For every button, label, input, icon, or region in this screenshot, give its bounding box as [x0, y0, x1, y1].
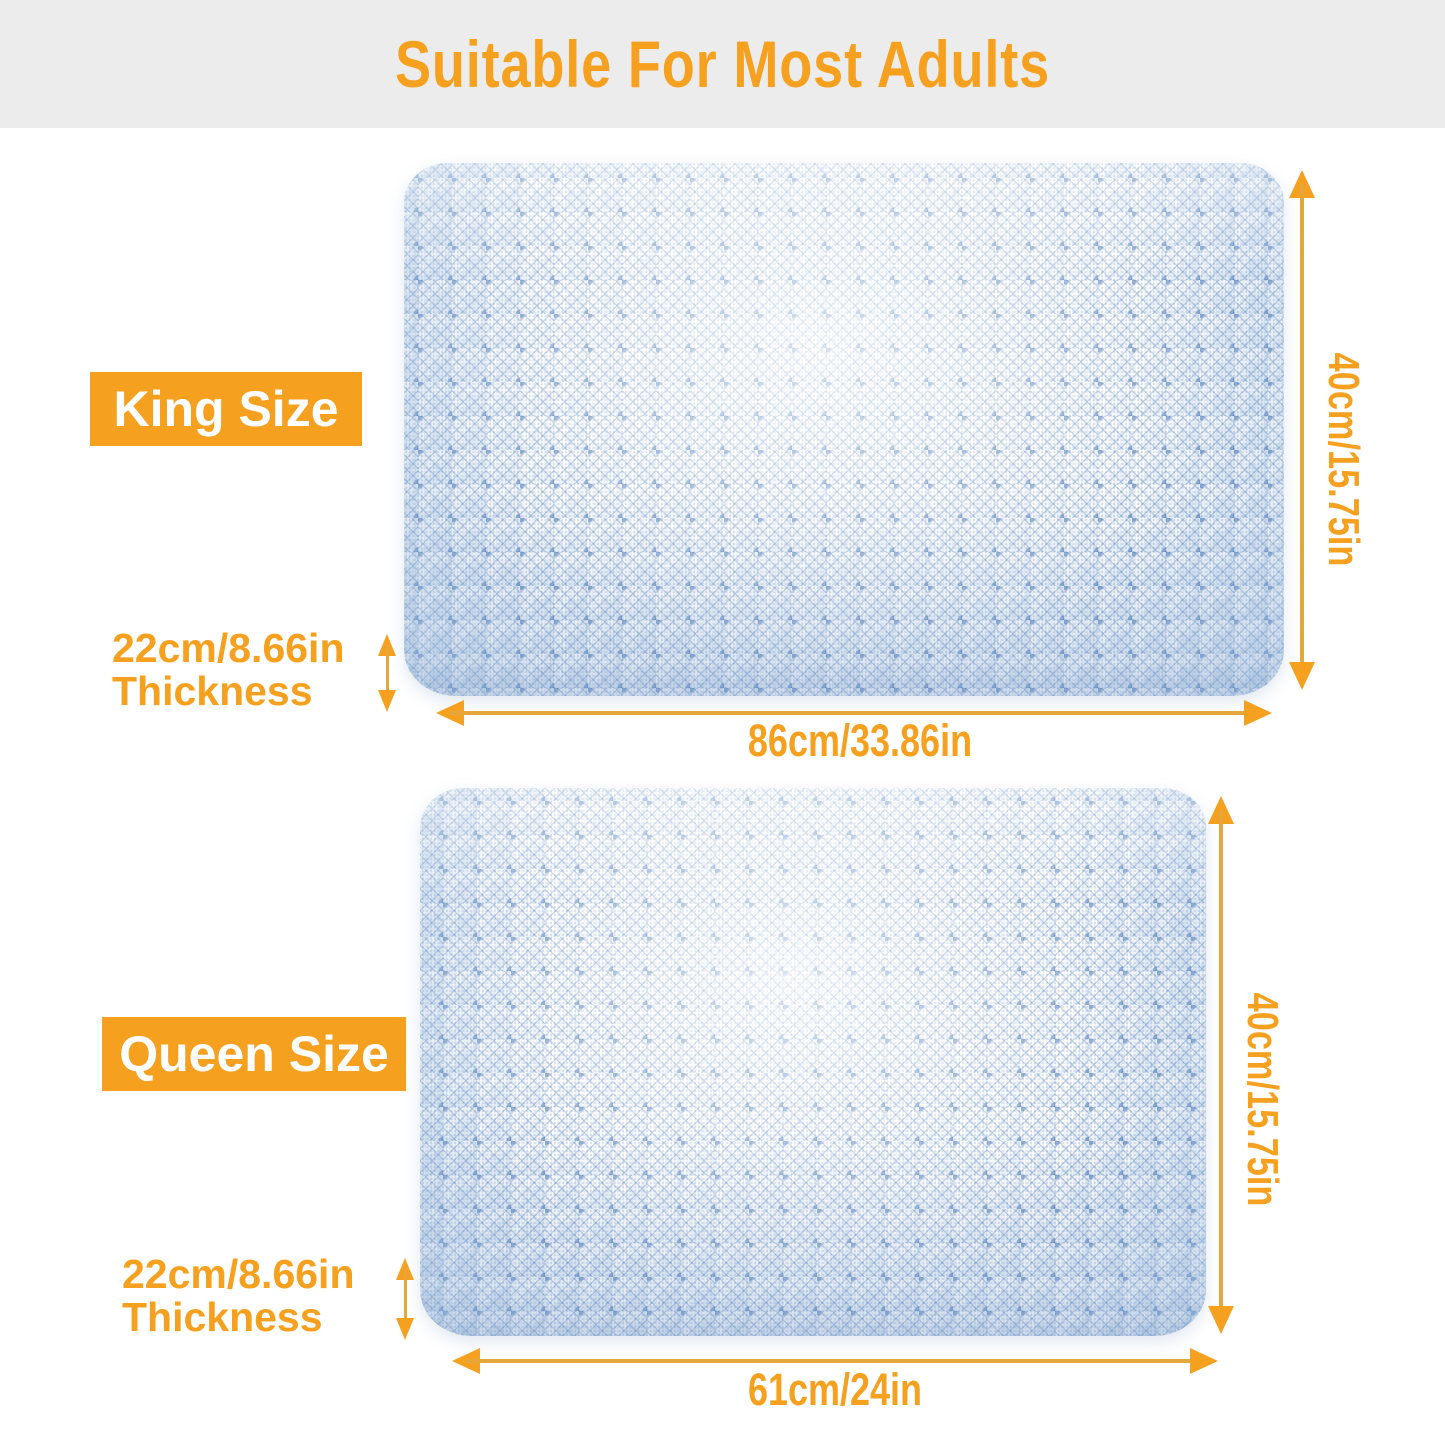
- thickness-value-queen: 22cm/8.66in: [122, 1251, 355, 1297]
- dimension-arrow-king-height: [1289, 170, 1315, 690]
- pillow-image-king: [404, 163, 1284, 696]
- arrow-shaft: [1219, 810, 1223, 1320]
- dimension-label-queen-height: 40cm/15.75in: [1239, 993, 1285, 1133]
- arrow-head-right-icon: [1244, 700, 1272, 726]
- arrow-shaft: [1300, 184, 1304, 676]
- page-title: Suitable For Most Adults: [130, 26, 1315, 102]
- size-badge-king: King Size: [90, 372, 362, 446]
- dimension-label-king-thickness: 22cm/8.66in Thickness: [112, 627, 392, 712]
- dimension-arrow-queen-height: [1208, 796, 1234, 1334]
- pillow-image-queen: [420, 788, 1206, 1336]
- fabric-weave-layer: [404, 163, 1284, 696]
- dimension-label-king-height: 40cm/15.75in: [1320, 353, 1366, 493]
- size-badge-queen: Queen Size: [102, 1017, 406, 1091]
- dimension-label-queen-width: 61cm/24in: [519, 1367, 1151, 1414]
- infographic-page: Suitable For Most Adults King Size 40cm/…: [0, 0, 1445, 1445]
- thickness-value-king: 22cm/8.66in: [112, 625, 345, 671]
- thickness-word-queen: Thickness: [122, 1296, 402, 1339]
- arrow-head-down-icon: [1289, 662, 1315, 690]
- arrow-head-down-icon: [1208, 1306, 1234, 1334]
- arrow-head-right-icon: [1190, 1348, 1218, 1374]
- dimension-label-king-width: 86cm/33.86in: [508, 718, 1212, 765]
- dimension-label-queen-thickness: 22cm/8.66in Thickness: [122, 1253, 402, 1338]
- arrow-shaft: [466, 1359, 1204, 1363]
- thickness-word-king: Thickness: [112, 670, 392, 713]
- fabric-weave-layer: [420, 788, 1206, 1336]
